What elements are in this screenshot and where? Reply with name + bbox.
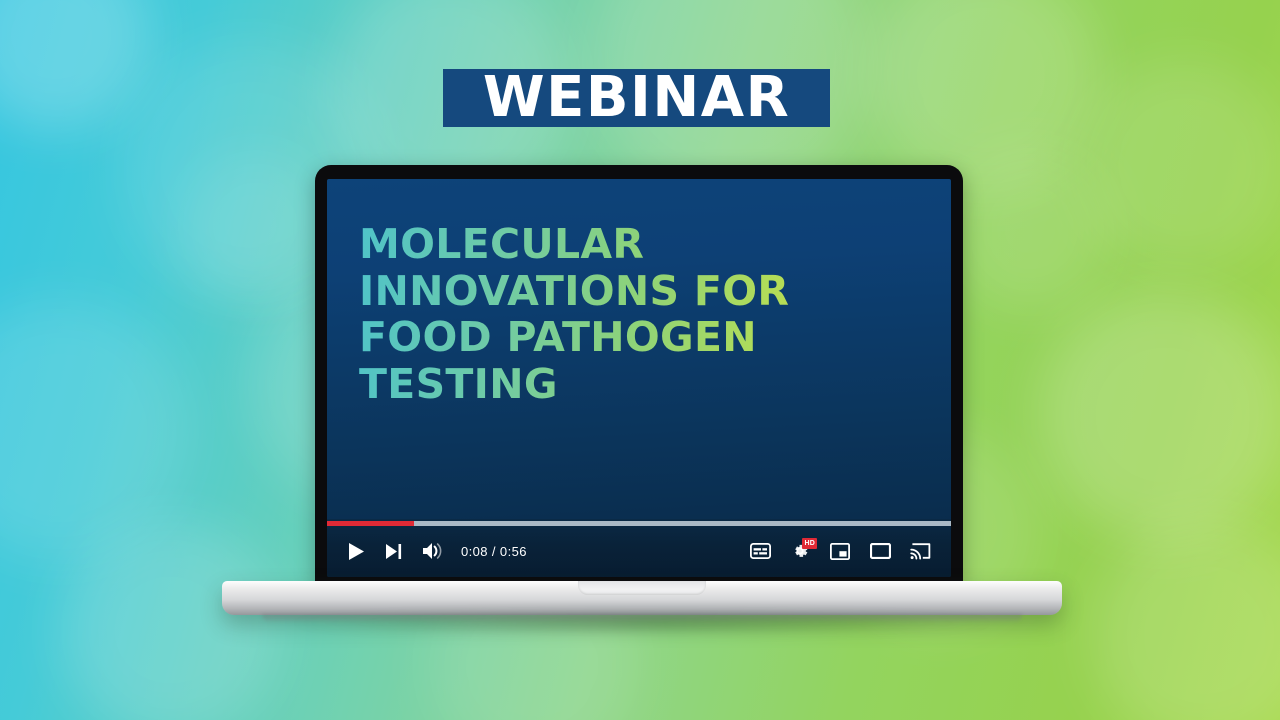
video-player-controls: 0:08 / 0:56 bbox=[327, 519, 951, 577]
volume-icon bbox=[421, 541, 443, 561]
time-display: 0:08 / 0:56 bbox=[451, 544, 533, 559]
laptop-shadow bbox=[292, 611, 992, 635]
progress-bar[interactable] bbox=[327, 521, 951, 526]
subtitles-icon bbox=[750, 543, 771, 559]
miniplayer-icon bbox=[830, 543, 850, 560]
progress-fill bbox=[327, 521, 414, 526]
settings-button[interactable]: HD bbox=[781, 534, 819, 568]
player-right-controls: HD bbox=[741, 534, 951, 568]
cast-button[interactable] bbox=[901, 534, 939, 568]
play-icon bbox=[348, 542, 365, 561]
bokeh-circle bbox=[870, 0, 1100, 190]
bokeh-circle bbox=[1040, 290, 1280, 540]
subtitles-button[interactable] bbox=[741, 534, 779, 568]
laptop-base-notch bbox=[578, 581, 706, 595]
play-button[interactable] bbox=[337, 534, 375, 568]
volume-button[interactable] bbox=[413, 534, 451, 568]
laptop-mockup: MOLECULAR INNOVATIONS FOR FOOD PATHOGEN … bbox=[222, 165, 1062, 635]
next-button[interactable] bbox=[375, 534, 413, 568]
promo-graphic: WEBINAR MOLECULAR INNOVATIONS FOR FOOD P… bbox=[0, 0, 1280, 720]
player-button-row: 0:08 / 0:56 bbox=[327, 528, 951, 574]
theater-button[interactable] bbox=[861, 534, 899, 568]
progress-buffer bbox=[327, 521, 951, 526]
cast-icon bbox=[910, 543, 931, 560]
theater-mode-icon bbox=[870, 543, 891, 559]
laptop-screen: MOLECULAR INNOVATIONS FOR FOOD PATHOGEN … bbox=[327, 179, 951, 577]
bokeh-circle bbox=[0, 0, 150, 130]
laptop-base bbox=[222, 581, 1062, 615]
webinar-banner-label: WEBINAR bbox=[483, 70, 790, 126]
bokeh-circle bbox=[1090, 520, 1280, 720]
webinar-banner: WEBINAR bbox=[443, 69, 830, 127]
miniplayer-button[interactable] bbox=[821, 534, 859, 568]
bokeh-circle bbox=[1080, 60, 1280, 270]
player-left-controls: 0:08 / 0:56 bbox=[327, 534, 533, 568]
hd-badge: HD bbox=[802, 538, 817, 549]
next-track-icon bbox=[385, 543, 403, 560]
slide-title: MOLECULAR INNOVATIONS FOR FOOD PATHOGEN … bbox=[359, 221, 899, 408]
bokeh-circle bbox=[0, 300, 190, 560]
laptop-lid: MOLECULAR INNOVATIONS FOR FOOD PATHOGEN … bbox=[315, 165, 963, 585]
